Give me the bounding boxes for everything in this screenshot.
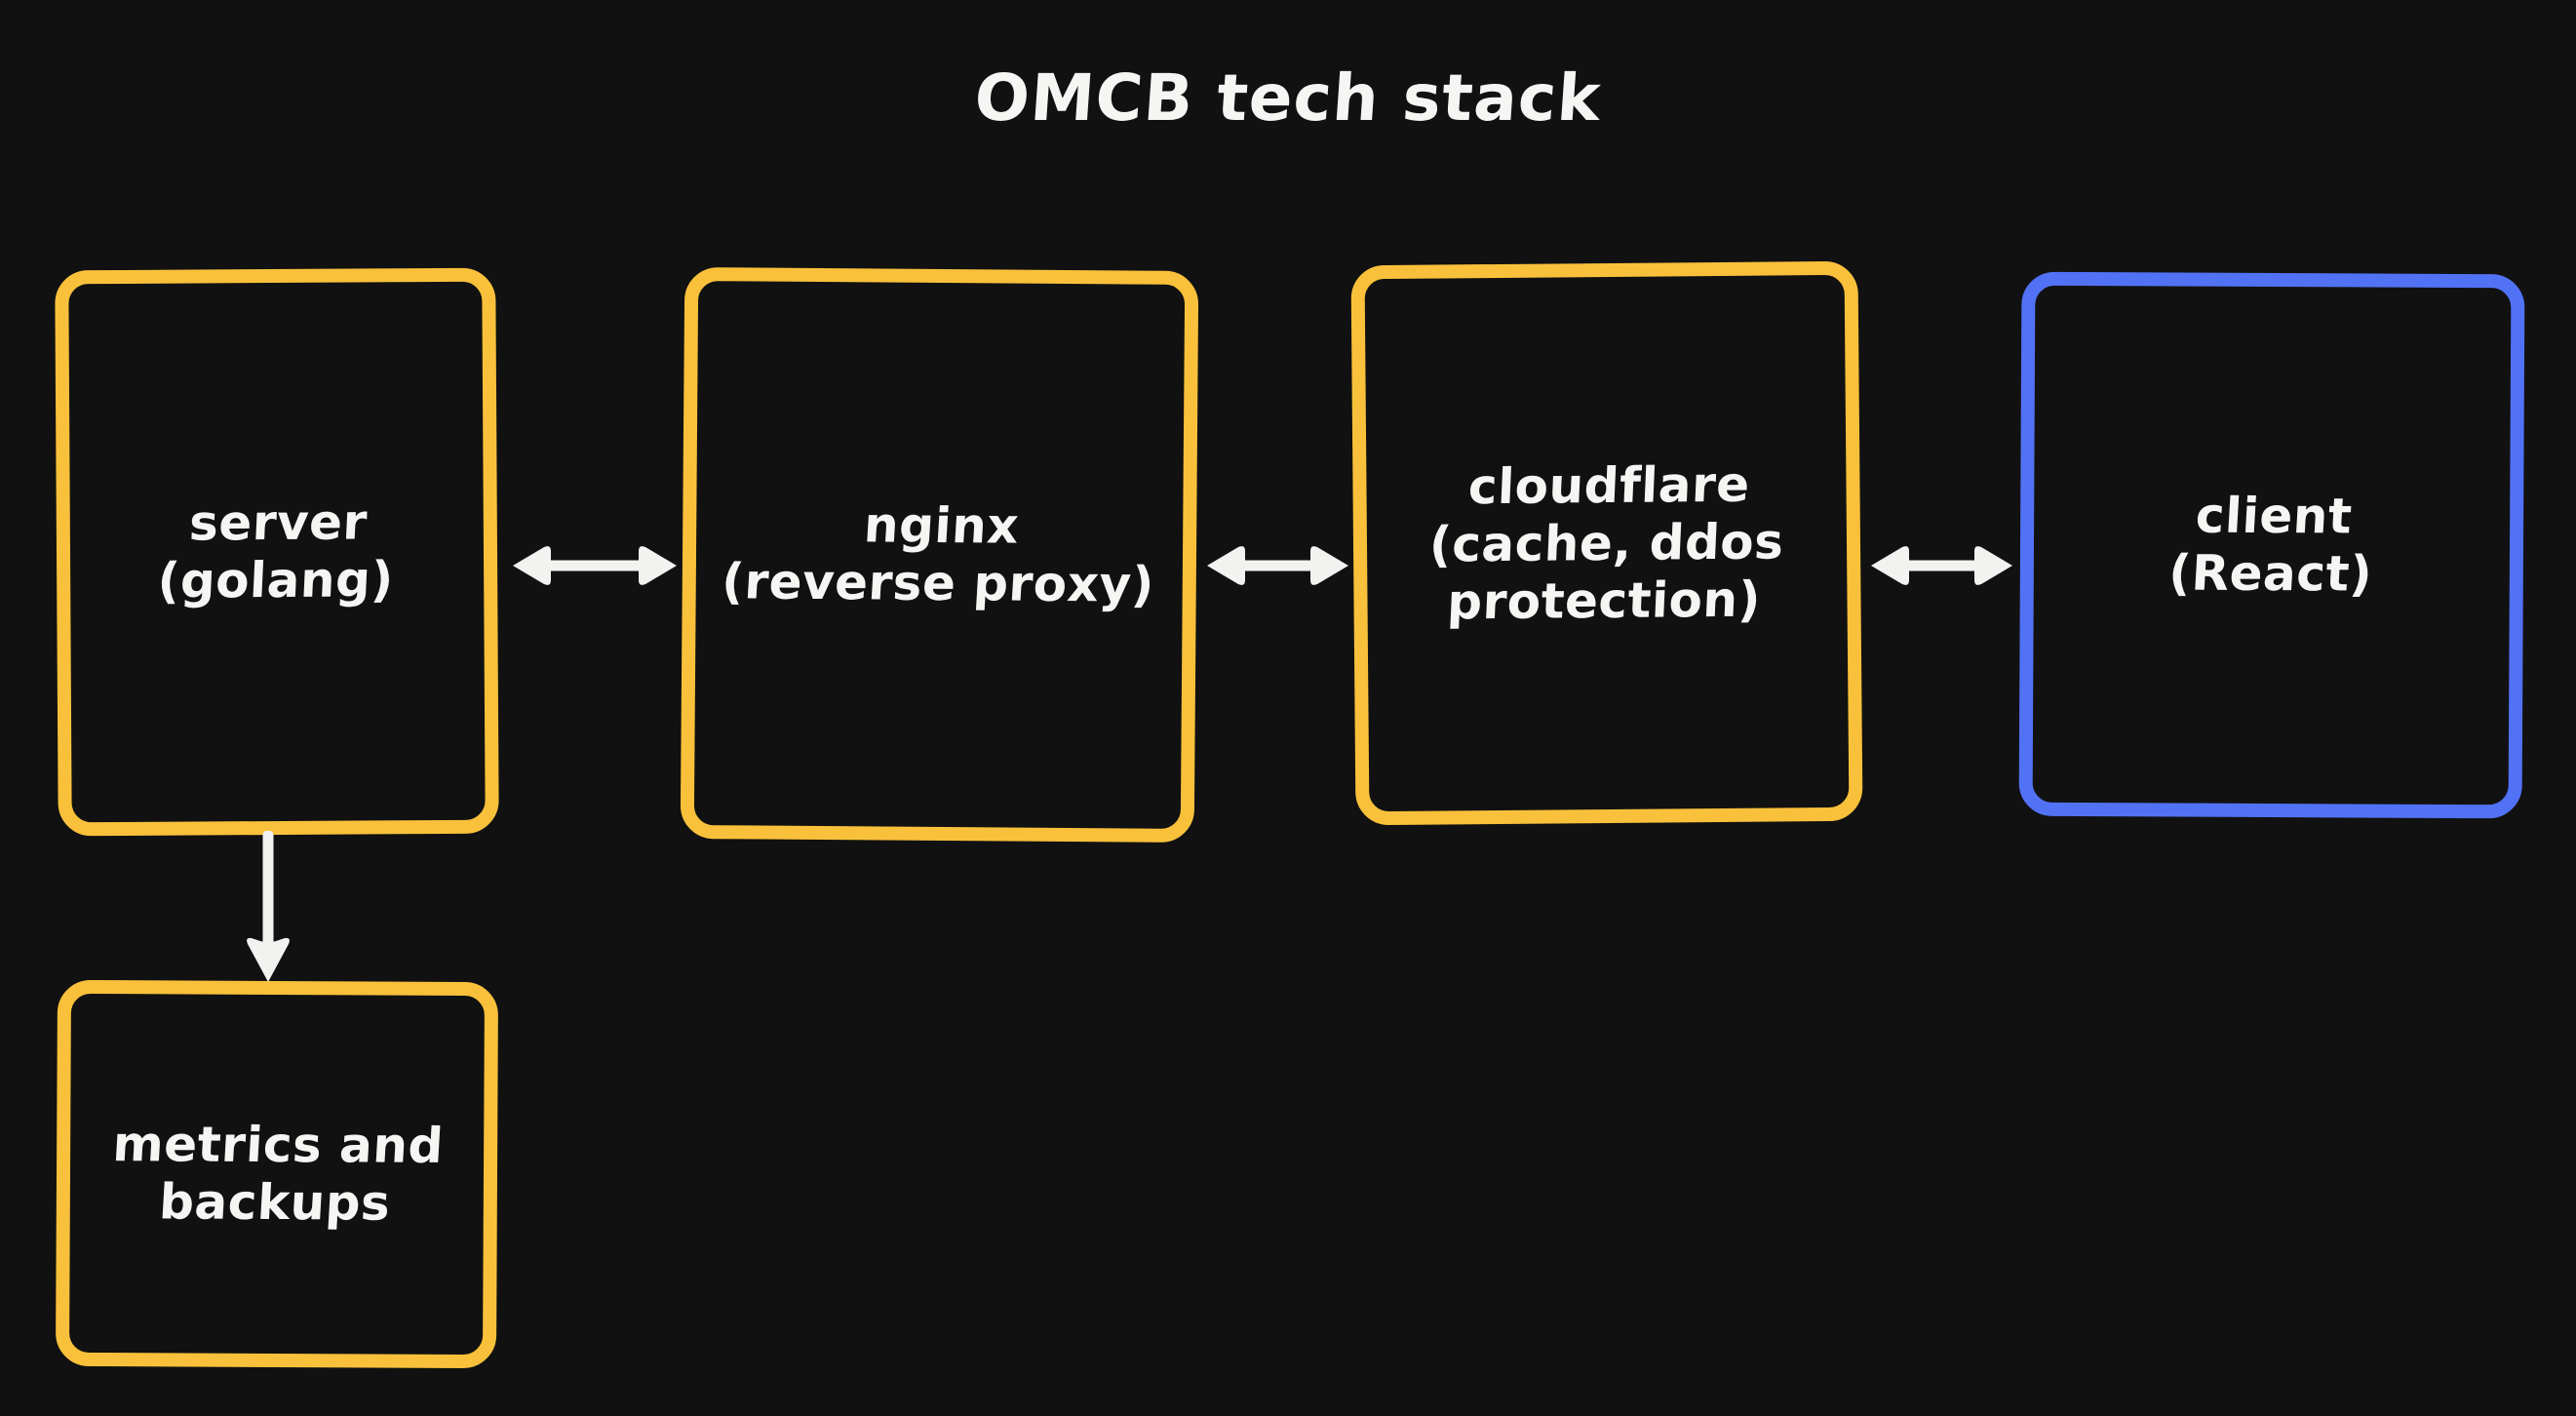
node-cloudflare-label: cloudflare (cache, ddos protection) (1416, 455, 1797, 631)
node-server[interactable]: server (golang) (55, 268, 499, 837)
node-server-label: server (golang) (146, 493, 408, 610)
connector-server-nginx (507, 531, 683, 600)
connector-cloudflare-client (1866, 531, 2017, 600)
node-nginx-label: nginx (reverse proxy) (710, 495, 1169, 614)
page-title: OMCB tech stack (0, 60, 2576, 136)
connector-server-metrics (229, 831, 307, 985)
node-metrics-label: metrics and backups (98, 1116, 455, 1233)
node-metrics[interactable]: metrics and backups (56, 980, 498, 1368)
node-cloudflare[interactable]: cloudflare (cache, ddos protection) (1351, 261, 1863, 826)
node-client[interactable]: client (React) (2019, 272, 2525, 819)
diagram-canvas: OMCB tech stack server (golang) nginx (r… (0, 0, 2576, 1416)
node-client-label: client (React) (2157, 487, 2387, 603)
connector-nginx-cloudflare (1202, 531, 1353, 600)
node-nginx[interactable]: nginx (reverse proxy) (681, 267, 1199, 843)
